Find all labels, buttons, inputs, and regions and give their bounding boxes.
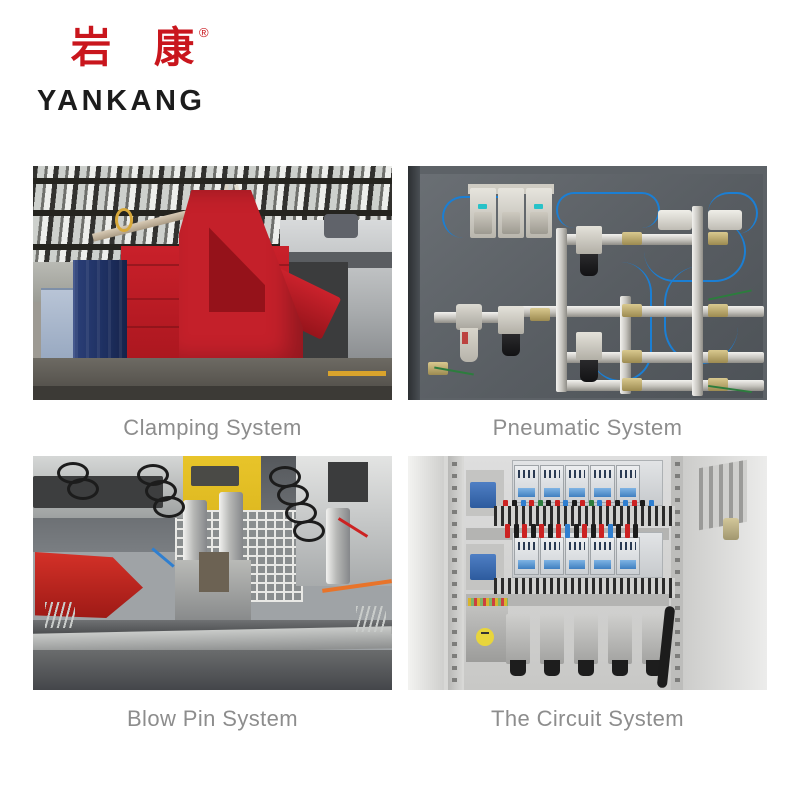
caption-circuit-system: The Circuit System — [408, 690, 767, 747]
ground-symbol-icon — [476, 628, 494, 646]
caption-pneumatic-system: Pneumatic System — [408, 400, 767, 456]
logo-chinese-characters: 岩 康 ® — [33, 22, 283, 78]
brand-logo: 岩 康 ® YANKANG — [33, 22, 283, 122]
registered-trademark-icon: ® — [199, 26, 209, 39]
logo-char-kang: 康 — [154, 22, 194, 74]
pneumatic-system-photo[interactable] — [408, 166, 767, 400]
logo-char-yan: 岩 — [71, 22, 111, 74]
product-feature-gallery: Clamping System — [33, 166, 767, 747]
gallery-item-pneumatic-system[interactable]: Pneumatic System — [408, 166, 767, 456]
clamping-system-photo[interactable] — [33, 166, 392, 400]
caption-blow-pin-system: Blow Pin System — [33, 690, 392, 747]
gallery-item-blow-pin-system[interactable]: Blow Pin System — [33, 456, 392, 747]
blow-pin-system-photo[interactable] — [33, 456, 392, 690]
circuit-system-photo[interactable] — [408, 456, 767, 690]
caption-clamping-system: Clamping System — [33, 400, 392, 456]
gallery-item-clamping-system[interactable]: Clamping System — [33, 166, 392, 456]
gallery-item-circuit-system[interactable]: The Circuit System — [408, 456, 767, 747]
logo-wordmark: YANKANG — [37, 84, 205, 118]
